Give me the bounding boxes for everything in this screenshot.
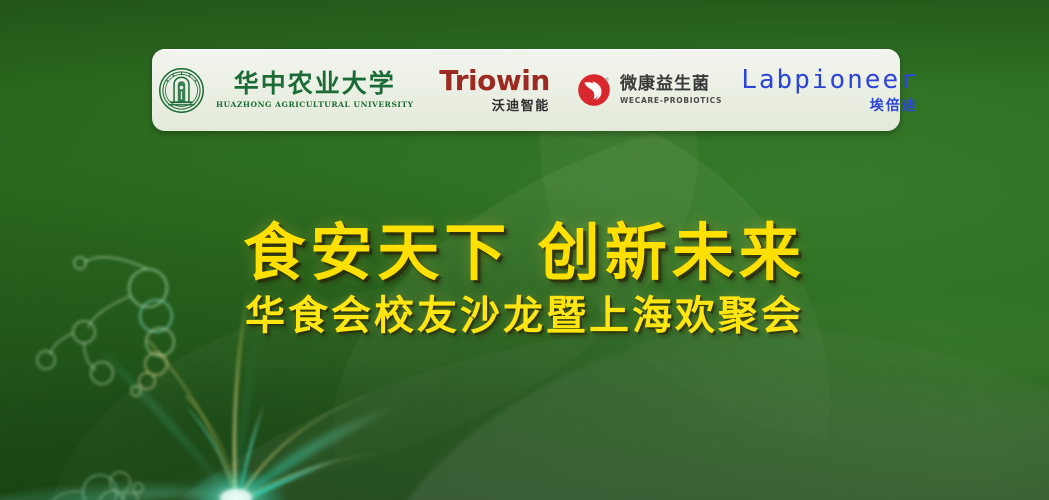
event-banner: 华中农业大学 HUAZHONG AGRICULTURAL UNIVERSITY …	[0, 0, 1049, 500]
sponsor-logo-labpioneer[interactable]: Labpioneer 埃倍迪	[730, 49, 930, 131]
headline-block: 食安天下 创新未来 华食会校友沙龙暨上海欢聚会	[0, 222, 1049, 336]
sponsor-logo-wecare[interactable]: ® 微康益生菌 WECARE-PROBIOTICS	[570, 49, 730, 131]
sponsor-logo-triowin[interactable]: Triowin 沃迪智能	[420, 49, 570, 131]
sponsor-logo-bar: 华中农业大学 HUAZHONG AGRICULTURAL UNIVERSITY …	[152, 49, 900, 131]
labpioneer-name-cn: 埃倍迪	[870, 99, 918, 113]
sponsor-logo-hzau[interactable]: 华中农业大学 HUAZHONG AGRICULTURAL UNIVERSITY	[152, 49, 420, 131]
wecare-name-cn: 微康益生菌	[620, 76, 722, 93]
hzau-seal-icon	[158, 67, 205, 114]
svg-text:®: ®	[604, 77, 609, 84]
wecare-name-en: WECARE-PROBIOTICS	[620, 97, 722, 105]
banner-title: 食安天下 创新未来	[0, 222, 1049, 284]
triowin-name-cn: 沃迪智能	[492, 100, 550, 113]
labpioneer-name-en: Labpioneer	[741, 67, 918, 93]
triowin-name-en: Triowin	[439, 67, 550, 95]
hzau-name-cn: 华中农业大学	[234, 71, 396, 96]
hzau-name-en: HUAZHONG AGRICULTURAL UNIVERSITY	[216, 101, 414, 109]
wecare-w-mark-icon: ®	[577, 73, 611, 107]
banner-subtitle: 华食会校友沙龙暨上海欢聚会	[0, 296, 1049, 336]
